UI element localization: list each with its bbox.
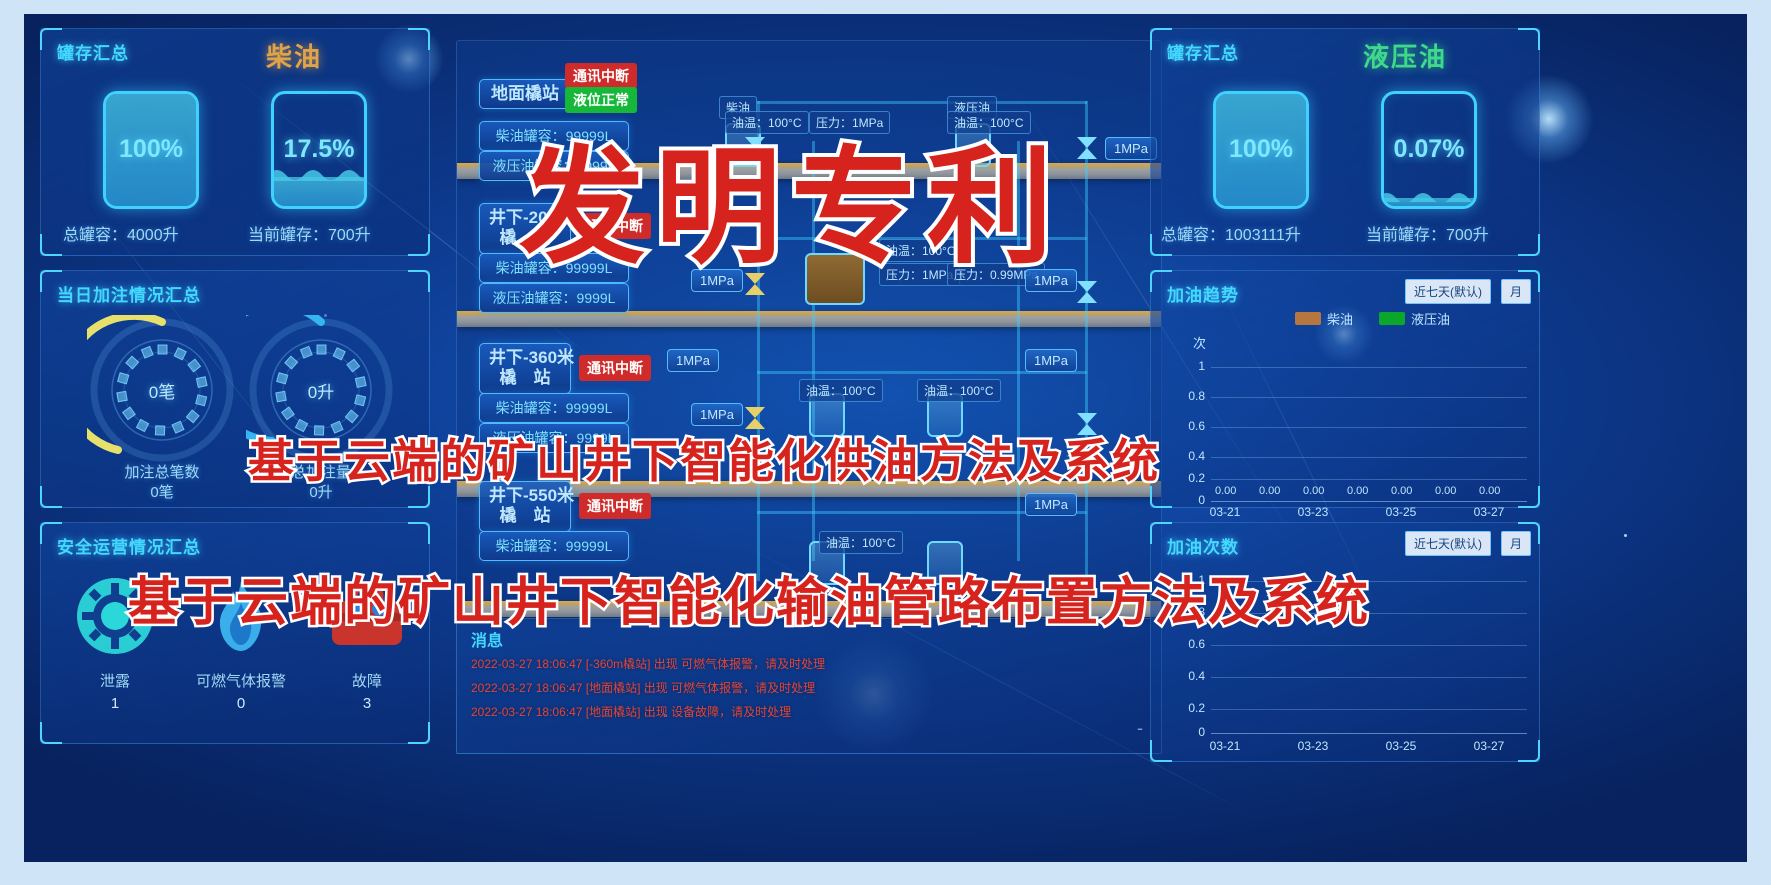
pressure-tag: 1MPa: [1025, 349, 1077, 372]
tank-total-capacity: 总罐容：4000升: [63, 221, 179, 245]
point-label: 0.00: [1303, 485, 1324, 497]
point-label: 0.00: [1259, 485, 1280, 497]
chart-gridline: [1211, 457, 1527, 458]
legend-item-hydraulic: 液压油: [1379, 309, 1450, 328]
panel-refuel-count-chart: 加油次数 近七天(默认) 月 1 0.8 0.6 0.4 0.2 0 03-21…: [1150, 522, 1540, 762]
gauge-total-count: 0笔: [87, 315, 237, 465]
point-label: 0.00: [1435, 485, 1456, 497]
tank-percent: 17.5%: [274, 135, 364, 164]
point-label: 0.00: [1215, 485, 1236, 497]
tank-current-stock: 当前罐存：700升: [248, 221, 371, 245]
safety-item-value: 1: [55, 695, 175, 712]
corner-decor: [1518, 234, 1540, 256]
legend-swatch: [1379, 312, 1405, 325]
chart-gridline: [1211, 709, 1527, 710]
safety-item-label: 泄露: [55, 670, 175, 691]
legend-label: 液压油: [1411, 309, 1450, 328]
station-label-line2: 橇 站: [489, 368, 561, 388]
x-tick: 03-21: [1201, 505, 1249, 519]
corner-decor: [408, 522, 430, 544]
safety-item-label: 可燃气体报警: [181, 670, 301, 691]
range-button-month[interactable]: 月: [1501, 279, 1531, 304]
pressure-tag: 1MPa: [667, 349, 719, 372]
station-chip-diesel-cap: 柴油罐容：99999L: [479, 531, 629, 561]
watermark-main: 发明专利: [519, 106, 1063, 288]
gauge-value: 0笔: [87, 315, 237, 465]
readout-oil-temp: 油温：100°C: [917, 379, 1001, 402]
corner-decor: [40, 722, 62, 744]
corner-decor: [40, 234, 62, 256]
corner-decor: [40, 486, 62, 508]
station-label-360m[interactable]: 井下-360米 橇 站: [479, 343, 571, 394]
panel-title: 罐存汇总: [1167, 39, 1239, 64]
x-tick: 03-25: [1377, 505, 1425, 519]
chart-gridline: [1211, 427, 1527, 428]
y-tick: 0.2: [1179, 701, 1205, 715]
chart-title: 加油次数: [1167, 533, 1239, 558]
range-button-week[interactable]: 近七天(默认): [1405, 531, 1491, 556]
y-axis-label: 次: [1193, 333, 1206, 352]
x-tick: 03-23: [1289, 505, 1337, 519]
chart-gridline: [1211, 479, 1527, 480]
pipe-segment: [1085, 101, 1088, 581]
legend-label: 柴油: [1327, 309, 1353, 328]
pressure-tag: 1MPa: [691, 403, 743, 426]
x-tick: 03-27: [1465, 505, 1513, 519]
tank-percent: 100%: [106, 135, 196, 164]
panel-messages: 消息 2022-03-27 18:06:47 [-360m橇站] 出现 可燃气体…: [456, 618, 1162, 754]
panel-tank-summary-diesel: 罐存汇总 柴油 100% 17.5% 总罐容：4000升 当前罐存：700升: [40, 28, 430, 256]
valve-icon[interactable]: [1077, 137, 1097, 159]
corner-decor: [1150, 740, 1172, 762]
gauge-label-line1: 加注总笔数: [77, 463, 247, 483]
point-label: 0.00: [1479, 485, 1500, 497]
watermark-line-1: 基于云端的矿山井下智能化供油方法及系统: [248, 425, 1160, 491]
point-label: 0.00: [1347, 485, 1368, 497]
dashboard-root: 罐存汇总 柴油 100% 17.5% 总罐容：4000升 当前罐存：700升 当: [0, 0, 1771, 885]
tank-total-capacity: 总罐容：1003111升: [1161, 221, 1301, 245]
watermark-line-2: 基于云端的矿山井下智能化输油管路布置方法及系统: [128, 560, 1370, 635]
x-tick: 03-21: [1201, 739, 1249, 753]
range-button-week[interactable]: 近七天(默认): [1405, 279, 1491, 304]
corner-decor: [408, 270, 430, 292]
seam-layer: [457, 311, 1161, 327]
station-label-ground[interactable]: 地面橇站: [479, 79, 571, 109]
safety-item-value: 3: [307, 695, 427, 712]
message-line: 2022-03-27 18:06:47 [地面橇站] 出现 设备故障，请及时处理: [471, 703, 791, 720]
corner-decor: [1518, 486, 1540, 508]
y-tick: 0.6: [1179, 419, 1205, 433]
screen-area: 罐存汇总 柴油 100% 17.5% 总罐容：4000升 当前罐存：700升 当: [24, 14, 1747, 862]
station-label-line2: 橇 站: [489, 506, 561, 526]
y-tick: 0.4: [1179, 669, 1205, 683]
pipe-segment: [757, 101, 1087, 104]
tank-gauge-total: 100%: [1213, 91, 1309, 209]
readout-oil-temp: 油温：100°C: [819, 531, 903, 554]
panel-title: 安全运营情况汇总: [57, 533, 201, 558]
station-label-line1: 井下-360米: [489, 348, 561, 368]
corner-decor: [408, 234, 430, 256]
decor-dot: [1624, 534, 1627, 537]
station-badge-comm: 通讯中断: [579, 493, 651, 519]
tank-percent: 100%: [1216, 135, 1306, 164]
y-tick: 0.8: [1179, 389, 1205, 403]
x-tick: 03-23: [1289, 739, 1337, 753]
point-label: 0.00: [1391, 485, 1412, 497]
panel-title: 当日加注情况汇总: [57, 281, 201, 306]
chart-gridline: [1211, 677, 1527, 678]
chart-axis-line: [1211, 501, 1527, 502]
oil-type-label: 液压油: [1363, 37, 1447, 74]
safety-item-label: 故障: [307, 670, 427, 691]
gauge-label-line2: 0笔: [77, 483, 247, 503]
y-tick: 0: [1179, 725, 1205, 739]
y-tick: 0.6: [1179, 637, 1205, 651]
message-line: 2022-03-27 18:06:47 [-360m橇站] 出现 可燃气体报警，…: [471, 655, 825, 672]
chart-title: 加油趋势: [1167, 281, 1239, 306]
tank-gauge-current: 0.07%: [1381, 91, 1477, 209]
legend-swatch: [1295, 312, 1321, 325]
panel-title: 罐存汇总: [57, 39, 129, 64]
corner-decor: [1518, 28, 1540, 50]
pressure-tag: 1MPa: [1025, 493, 1077, 516]
readout-oil-temp: 油温：100°C: [799, 379, 883, 402]
safety-item-value: 0: [181, 695, 301, 712]
gauge-total-count-label: 加注总笔数 0笔: [77, 463, 247, 502]
panel-tank-summary-hydraulic: 罐存汇总 液压油 100% 0.07% 总罐容：1003111升 当前罐存：70…: [1150, 28, 1540, 256]
x-tick: 03-27: [1465, 739, 1513, 753]
panel-refuel-trend-chart: 加油趋势 近七天(默认) 月 柴油 液压油 次 1 0.8 0.6 0.4 0.…: [1150, 270, 1540, 508]
range-button-month[interactable]: 月: [1501, 531, 1531, 556]
y-tick: 0.2: [1179, 471, 1205, 485]
corner-decor: [408, 28, 430, 50]
tank-current-stock: 当前罐存：700升: [1366, 221, 1489, 245]
tank-wave-icon: [1381, 186, 1477, 202]
tank-gauge-total: 100%: [103, 91, 199, 209]
station-badge-comm: 通讯中断: [579, 355, 651, 381]
tank-percent: 0.07%: [1384, 135, 1474, 164]
x-tick: 03-25: [1377, 739, 1425, 753]
y-tick: 1: [1179, 359, 1205, 373]
chart-axis-line: [1211, 733, 1527, 734]
oil-type-label: 柴油: [266, 37, 322, 74]
valve-icon[interactable]: [1077, 281, 1097, 303]
corner-decor: [408, 722, 430, 744]
corner-decor: [1518, 740, 1540, 762]
station-badge-comm: 通讯中断: [565, 63, 637, 89]
y-tick: 0.4: [1179, 449, 1205, 463]
tank-gauge-current: 17.5%: [271, 91, 367, 209]
message-line: 2022-03-27 18:06:47 [地面橇站] 出现 可燃气体报警，请及时…: [471, 679, 815, 696]
chart-gridline: [1211, 397, 1527, 398]
chart-gridline: [1211, 645, 1527, 646]
station-chip-diesel-cap: 柴油罐容：99999L: [479, 393, 629, 423]
tank-wave-icon: [271, 165, 367, 181]
chart-gridline: [1211, 367, 1527, 368]
legend-item-diesel: 柴油: [1295, 309, 1353, 328]
